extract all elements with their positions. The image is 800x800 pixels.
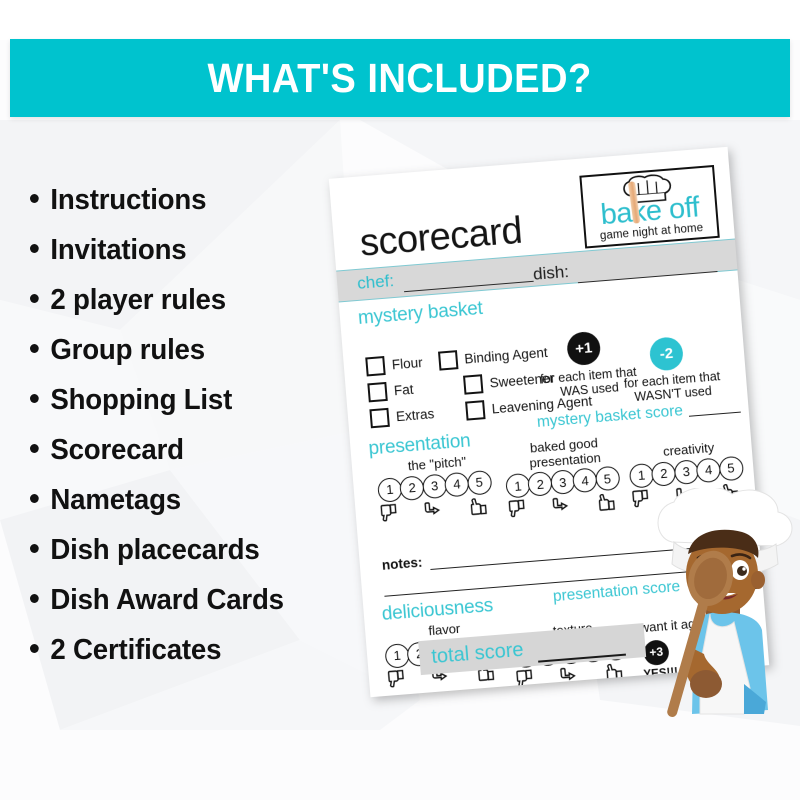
bullet-dot-icon [30,444,39,453]
thumbs-sideways-icon [559,664,581,686]
rating-option[interactable]: 4 [696,457,722,483]
included-list: Instructions Invitations 2 player rules … [30,186,360,686]
list-item-label: Scorecard [50,436,183,465]
rating-option[interactable]: 5 [594,466,620,492]
chef-input-line[interactable] [404,281,534,292]
total-score-label: total score [431,639,525,669]
list-item: Nametags [30,486,350,515]
list-item: Group rules [30,336,350,365]
thumbs-up-icon [604,660,624,681]
rating-option[interactable]: 3 [673,459,699,485]
rating-option[interactable]: 5 [466,469,492,495]
list-item-label: Instructions [50,186,206,215]
bullet-dot-icon [30,394,39,403]
checkbox-label: Binding Agent [464,345,548,367]
checkbox-extras[interactable] [369,408,389,428]
list-item-label: 2 player rules [50,286,226,315]
bake-off-logo: bake off game night at home [579,165,719,249]
checkbox-sweetener[interactable] [463,374,483,394]
top-banner: WHAT'S INCLUDED? [10,39,790,117]
checkbox-fat[interactable] [367,382,387,402]
checkbox-label: Extras [395,405,450,424]
thumbs-up-icon [597,491,617,512]
checkbox-label: Fat [393,379,448,398]
bullet-dot-icon [30,294,39,303]
list-item: Instructions [30,186,350,215]
minus-two-badge: -2 [649,336,685,372]
dish-label: dish: [532,262,569,285]
checkbox-binding-agent[interactable] [438,350,458,370]
thumbs-sideways-icon [423,498,445,520]
list-item: Dish Award Cards [30,586,350,615]
list-item: Shopping List [30,386,350,415]
list-item-label: Invitations [50,236,186,265]
thumbs-sideways-icon [551,495,573,517]
rating-option[interactable]: 2 [399,475,425,501]
chef-character-illustration [648,488,800,728]
top-banner-title: WHAT'S INCLUDED? [208,55,592,102]
list-item: 2 Certificates [30,636,350,665]
bullet-dot-icon [30,594,39,603]
rating-option[interactable]: 1 [384,643,410,669]
list-item-label: Dish placecards [50,536,259,565]
list-item-label: 2 Certificates [50,636,221,665]
list-item-label: Group rules [50,336,205,365]
rating-option[interactable]: 2 [651,461,677,487]
list-item: 2 player rules [30,286,350,315]
rating-option[interactable]: 4 [444,471,470,497]
thumbs-down-icon [379,502,399,523]
rating-option[interactable]: 1 [377,477,403,503]
list-item: Invitations [30,236,350,265]
list-item: Scorecard [30,436,350,465]
rating-option[interactable]: 2 [527,471,553,497]
checkbox-flour[interactable] [365,356,385,376]
poster-canvas: WHAT'S INCLUDED? Instructions Invitation… [0,0,800,800]
list-item-label: Nametags [50,486,181,515]
list-item-label: Dish Award Cards [50,586,283,615]
rating-group-baked-good-presentation: baked good presentation 1 2 3 4 5 [503,434,631,522]
list-item: Dish placecards [30,536,350,565]
rating-option[interactable]: 1 [505,473,531,499]
checkbox-label: Flour [391,355,423,372]
rating-option[interactable]: 3 [550,469,576,495]
rating-option[interactable]: 3 [422,473,448,499]
bullet-dot-icon [30,494,39,503]
thumbs-down-icon [386,668,406,689]
bullet-dot-icon [30,344,39,353]
bullet-dot-icon [30,544,39,553]
notes-label: notes: [381,555,423,573]
bullet-dot-icon [30,644,39,653]
mystery-basket-section: mystery basket Flour Binding Agent Fat [339,277,748,433]
bullet-dot-icon [30,244,39,253]
chef-label: chef: [357,271,395,294]
rating-option[interactable]: 5 [718,455,744,481]
rating-option[interactable]: 4 [572,467,598,493]
thumbs-up-icon [469,495,489,516]
thumbs-down-icon [515,668,535,689]
checkbox-leavening-agent[interactable] [465,400,485,420]
rating-option[interactable]: 1 [629,462,655,488]
list-item-label: Shopping List [50,386,232,415]
bullet-dot-icon [30,194,39,203]
thumbs-down-icon [507,498,527,519]
rating-group-pitch: the "pitch" 1 2 3 4 5 [376,452,503,525]
